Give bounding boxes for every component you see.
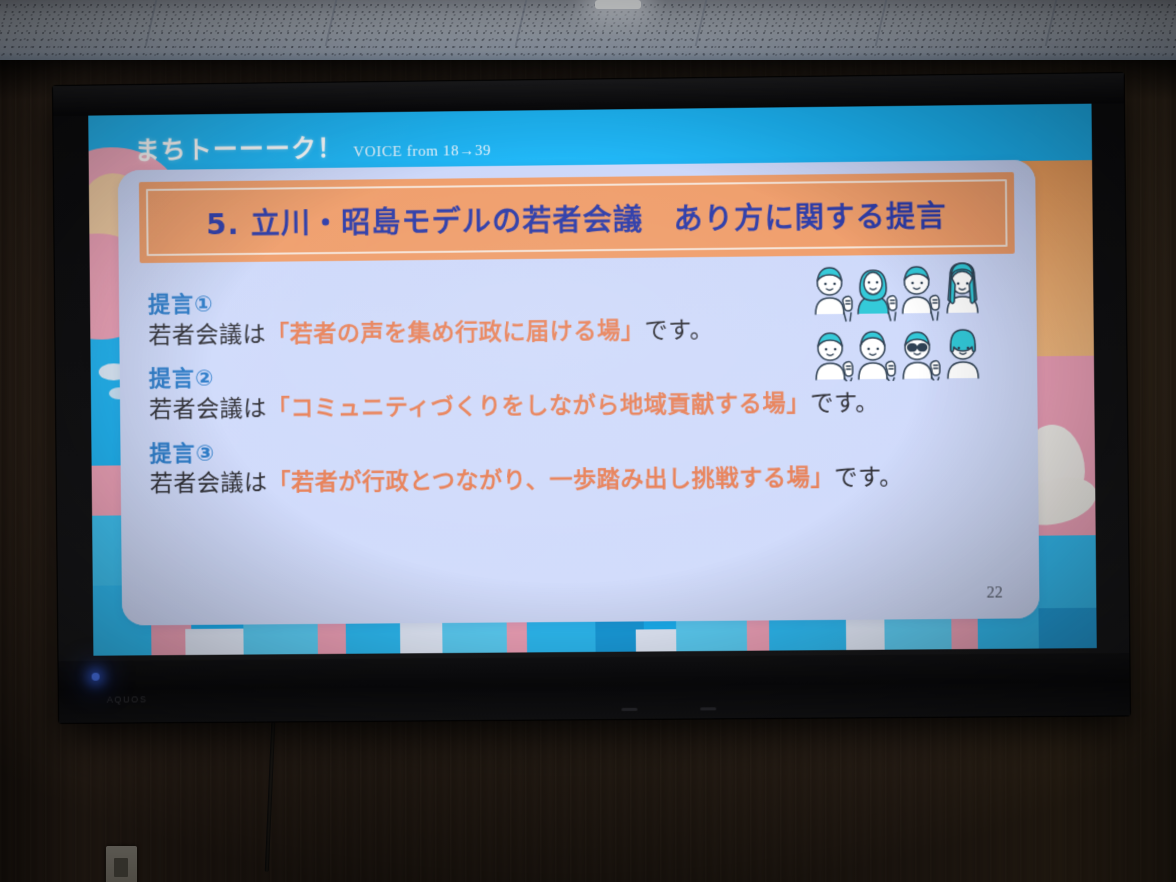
- page-number: 22: [986, 584, 1002, 602]
- proposal-prefix: 若者会議は: [149, 396, 267, 423]
- proposal-suffix: です。: [810, 390, 879, 417]
- wall-outlet-plate: [106, 846, 137, 882]
- wall-display[interactable]: AQUOS: [53, 73, 1130, 723]
- proposal-highlight: 若者が行政とつながり、一歩踏み出し挑戦する場: [291, 465, 810, 496]
- proposal-suffix: です。: [644, 317, 713, 344]
- brand-tagline: VOICE from 18→39: [353, 143, 491, 162]
- proposal-highlight: 若者の声を集め行政に届ける場: [290, 318, 621, 347]
- proposal-open-quote: 「: [267, 396, 291, 422]
- slide-title-plaque: 5. 立川・昭島モデルの若者会議 あり方に関する提言: [139, 172, 1015, 263]
- proposal-sentence: 若者会議は「コミュニティづくりをしながら地域貢献する場」です。: [149, 388, 976, 426]
- proposal-prefix: 若者会議は: [150, 470, 268, 497]
- power-led-indicator: [92, 673, 100, 681]
- slide-content-card: 5. 立川・昭島モデルの若者会議 あり方に関する提言 提言① 若者会議は「若者の…: [118, 160, 1040, 626]
- slide-header: まちトーーーク！ VOICE from 18→39: [134, 127, 491, 167]
- page-title: 5. 立川・昭島モデルの若者会議 あり方に関する提言: [206, 193, 947, 243]
- ceiling-perforation-pattern-secondary: [0, 0, 1176, 58]
- proposal-sentence: 若者会議は「若者が行政とつながり、一歩踏み出し挑戦する場」です。: [150, 463, 977, 500]
- ir-sensor: [621, 708, 637, 711]
- proposal-highlight: コミュニティづくりをしながら地域貢献する場: [290, 391, 786, 422]
- proposal-item: 提言③ 若者会議は「若者が行政とつながり、一歩踏み出し挑戦する場」です。: [149, 433, 976, 500]
- proposal-open-quote: 「: [267, 470, 291, 496]
- room-photo-scene: AQUOS: [0, 0, 1176, 882]
- display-bezel-bottom: [58, 653, 1129, 723]
- proposal-close-quote: 」: [810, 465, 834, 491]
- proposal-open-quote: 「: [266, 321, 290, 347]
- people-illustration: [809, 257, 1023, 382]
- proposal-prefix: 若者会議は: [148, 321, 266, 348]
- proposal-suffix: です。: [834, 465, 903, 492]
- display-brand-logo: AQUOS: [107, 694, 148, 704]
- proposal-close-quote: 」: [621, 317, 645, 343]
- display-screen[interactable]: まちトーーーク！ VOICE from 18→39 5. 立川・昭島モデルの若者…: [88, 104, 1097, 656]
- brand-logo-text: まちトーーーク！: [134, 129, 343, 167]
- ir-sensor-secondary: [700, 707, 716, 710]
- proposal-close-quote: 」: [786, 391, 810, 417]
- ceiling-light-fixture: [595, 0, 641, 9]
